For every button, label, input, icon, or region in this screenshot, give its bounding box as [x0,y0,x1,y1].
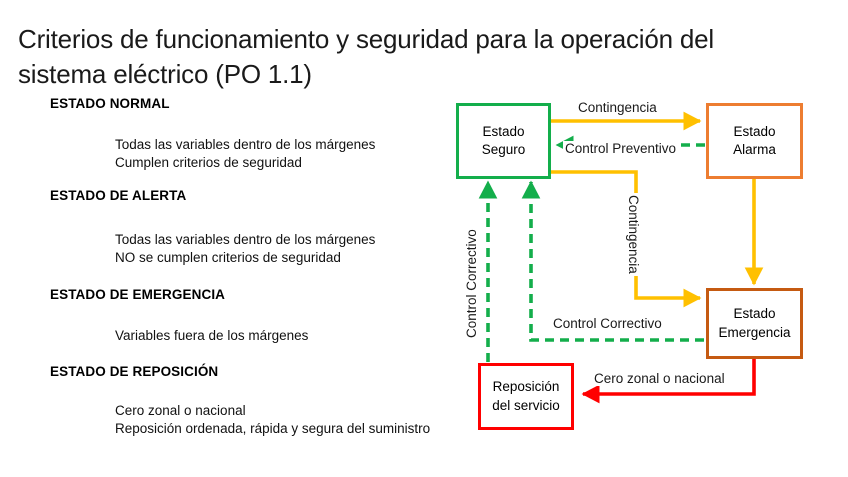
node-reposicion-del-servicio[interactable]: Reposición del servicio [478,363,574,430]
edge-label-contingencia-top: Contingencia [576,100,659,115]
node-estado-seguro-line-1: Estado [482,123,524,141]
edge-label-contingencia-vertical: Contingencia [626,193,641,276]
node-estado-seguro[interactable]: Estado Seguro [456,103,551,179]
node-estado-emergencia[interactable]: Estado Emergencia [706,288,803,359]
slide-canvas: Criterios de funcionamiento y seguridad … [0,0,848,477]
node-estado-alarma[interactable]: Estado Alarma [706,103,803,179]
state-transition-diagram: Estado Seguro Estado Alarma Estado Emerg… [0,0,848,477]
node-estado-seguro-line-2: Seguro [482,141,526,159]
node-estado-emergencia-line-1: Estado [733,305,775,323]
edge-label-cero-zonal-o-nacional: Cero zonal o nacional [592,371,727,386]
node-estado-alarma-line-1: Estado [733,123,775,141]
node-reposicion-line-1: Reposición [493,378,560,396]
node-estado-alarma-line-2: Alarma [733,141,776,159]
edge-label-control-preventivo: Control Preventivo [563,141,678,156]
edge-label-control-correctivo-vertical: Control Correctivo [464,227,479,340]
diagram-connectors [0,0,848,477]
node-estado-emergencia-line-2: Emergencia [718,324,790,342]
node-reposicion-line-2: del servicio [492,397,560,415]
edge-label-control-correctivo-horizontal: Control Correctivo [551,316,664,331]
